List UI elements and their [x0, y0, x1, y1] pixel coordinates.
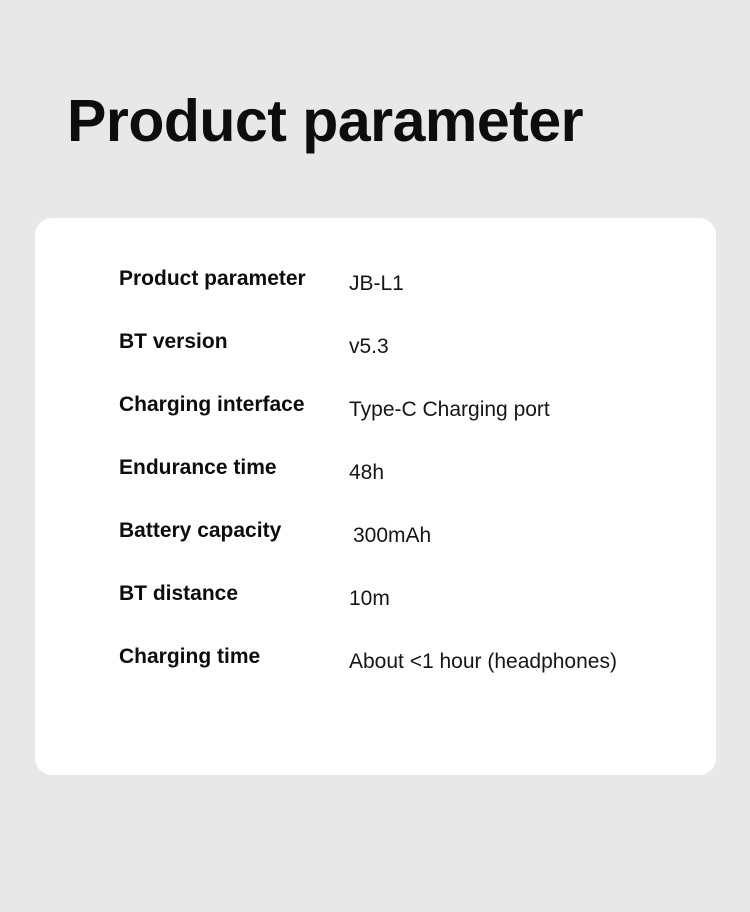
spec-label: Charging interface	[119, 392, 305, 418]
table-row: Battery capacity 300mAh	[119, 518, 699, 581]
spec-table: Product parameter JB-L1 BT version v5.3 …	[119, 266, 699, 707]
table-row: BT distance 10m	[119, 581, 699, 644]
table-row: Charging time About <1 hour (headphones)	[119, 644, 699, 707]
spec-label: Charging time	[119, 644, 260, 670]
table-row: BT version v5.3	[119, 329, 699, 392]
spec-value: Type-C Charging port	[349, 397, 550, 423]
spec-card: Product parameter JB-L1 BT version v5.3 …	[35, 218, 716, 775]
spec-label: BT version	[119, 329, 228, 355]
spec-value: 10m	[349, 586, 390, 612]
page-title: Product parameter	[67, 92, 583, 151]
table-row: Endurance time 48h	[119, 455, 699, 518]
product-parameter-page: Product parameter Product parameter JB-L…	[0, 0, 750, 912]
spec-value: JB-L1	[349, 271, 404, 297]
spec-value: v5.3	[349, 334, 389, 360]
spec-value: About <1 hour (headphones)	[349, 649, 617, 675]
spec-label: Product parameter	[119, 266, 306, 292]
spec-label: Endurance time	[119, 455, 277, 481]
spec-value: 48h	[349, 460, 384, 486]
spec-value: 300mAh	[353, 523, 431, 549]
spec-label: Battery capacity	[119, 518, 281, 544]
table-row: Charging interface Type-C Charging port	[119, 392, 699, 455]
table-row: Product parameter JB-L1	[119, 266, 699, 329]
spec-label: BT distance	[119, 581, 238, 607]
